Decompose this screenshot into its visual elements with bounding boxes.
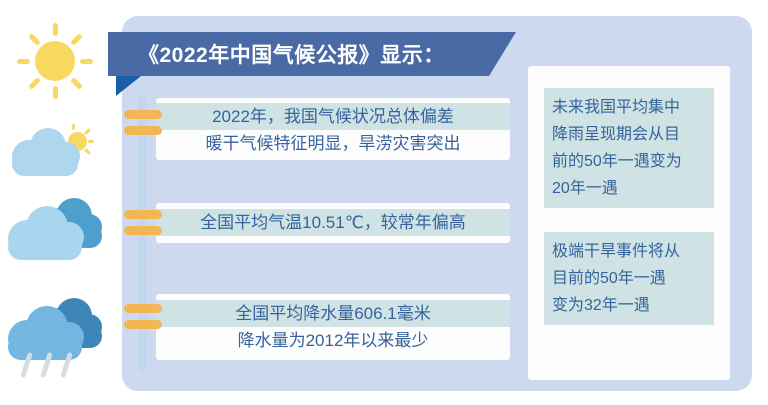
statement-card-climate-overview: 2022年，我国气候状况总体偏差 暖干气候特征明显，旱涝灾害突出: [156, 98, 510, 160]
statement-plain-line: 降水量为2012年以来最少: [156, 327, 510, 354]
projection-line: 极端干旱事件将从: [552, 238, 706, 265]
sun-ray: [70, 33, 83, 46]
projection-line: 20年一遇: [552, 175, 706, 202]
equals-marker-icon: [124, 210, 162, 242]
equals-marker-icon: [124, 110, 162, 142]
projection-extreme-drought: 极端干旱事件将从 目前的50年一遇 变为32年一遇: [544, 232, 714, 325]
infographic-root: 《2022年中国气候公报》显示： 2022年，我国气候状况总体偏差 暖干气候特征…: [0, 0, 768, 405]
sun-ray: [28, 77, 41, 90]
projection-line: 未来我国平均集中: [552, 94, 706, 121]
rain-cloud-front: [6, 304, 86, 360]
statement-highlight-line: 全国平均气温10.51℃，较常年偏高: [156, 209, 510, 236]
equals-marker-icon: [124, 304, 162, 336]
projection-concentrated-rainfall: 未来我国平均集中 降雨呈现期会从目 前的50年一遇变为 20年一遇: [544, 88, 714, 208]
statement-plain-line: 暖干气候特征明显，旱涝灾害突出: [156, 130, 510, 157]
sun-ray: [17, 59, 30, 64]
rain-cloud-icon: [6, 296, 110, 380]
weather-icon-column: [0, 0, 122, 405]
sun-ray: [53, 86, 58, 99]
sun-ray: [70, 77, 83, 90]
sun-ray: [80, 59, 93, 64]
statement-highlight-line: 全国平均降水量606.1毫米: [156, 300, 510, 327]
title-ribbon: 《2022年中国气候公报》显示：: [108, 32, 528, 88]
small-sun-ray: [84, 148, 91, 155]
statement-card-average-temperature: 全国平均气温10.51℃，较常年偏高: [156, 203, 510, 243]
page-title: 《2022年中国气候公报》显示：: [138, 39, 445, 69]
sun-core: [35, 41, 75, 81]
sun-ray: [28, 33, 41, 46]
projection-line: 降雨呈现期会从目: [552, 121, 706, 148]
ribbon-body: 《2022年中国气候公报》显示：: [108, 32, 516, 76]
cloud-front: [6, 204, 86, 260]
statement-card-average-precipitation: 全国平均降水量606.1毫米 降水量为2012年以来最少: [156, 294, 510, 360]
statements-column: 2022年，我国气候状况总体偏差 暖干气候特征明显，旱涝灾害突出 全国平均气温1…: [138, 88, 510, 380]
small-sun-ray: [84, 128, 91, 135]
sun-ray: [53, 23, 58, 36]
projection-line: 目前的50年一遇: [552, 265, 706, 292]
sun-icon: [18, 24, 92, 98]
projection-line: 前的50年一遇变为: [552, 148, 706, 175]
cloud-shape: [8, 126, 82, 176]
cloud-icon: [6, 196, 110, 262]
statement-highlight-line: 2022年，我国气候状况总体偏差: [156, 103, 510, 130]
sun-behind-cloud-icon: [8, 110, 104, 180]
projections-card: 未来我国平均集中 降雨呈现期会从目 前的50年一遇变为 20年一遇 极端干旱事件…: [528, 66, 730, 380]
small-sun-ray: [88, 140, 94, 143]
projection-line: 变为32年一遇: [552, 292, 706, 319]
